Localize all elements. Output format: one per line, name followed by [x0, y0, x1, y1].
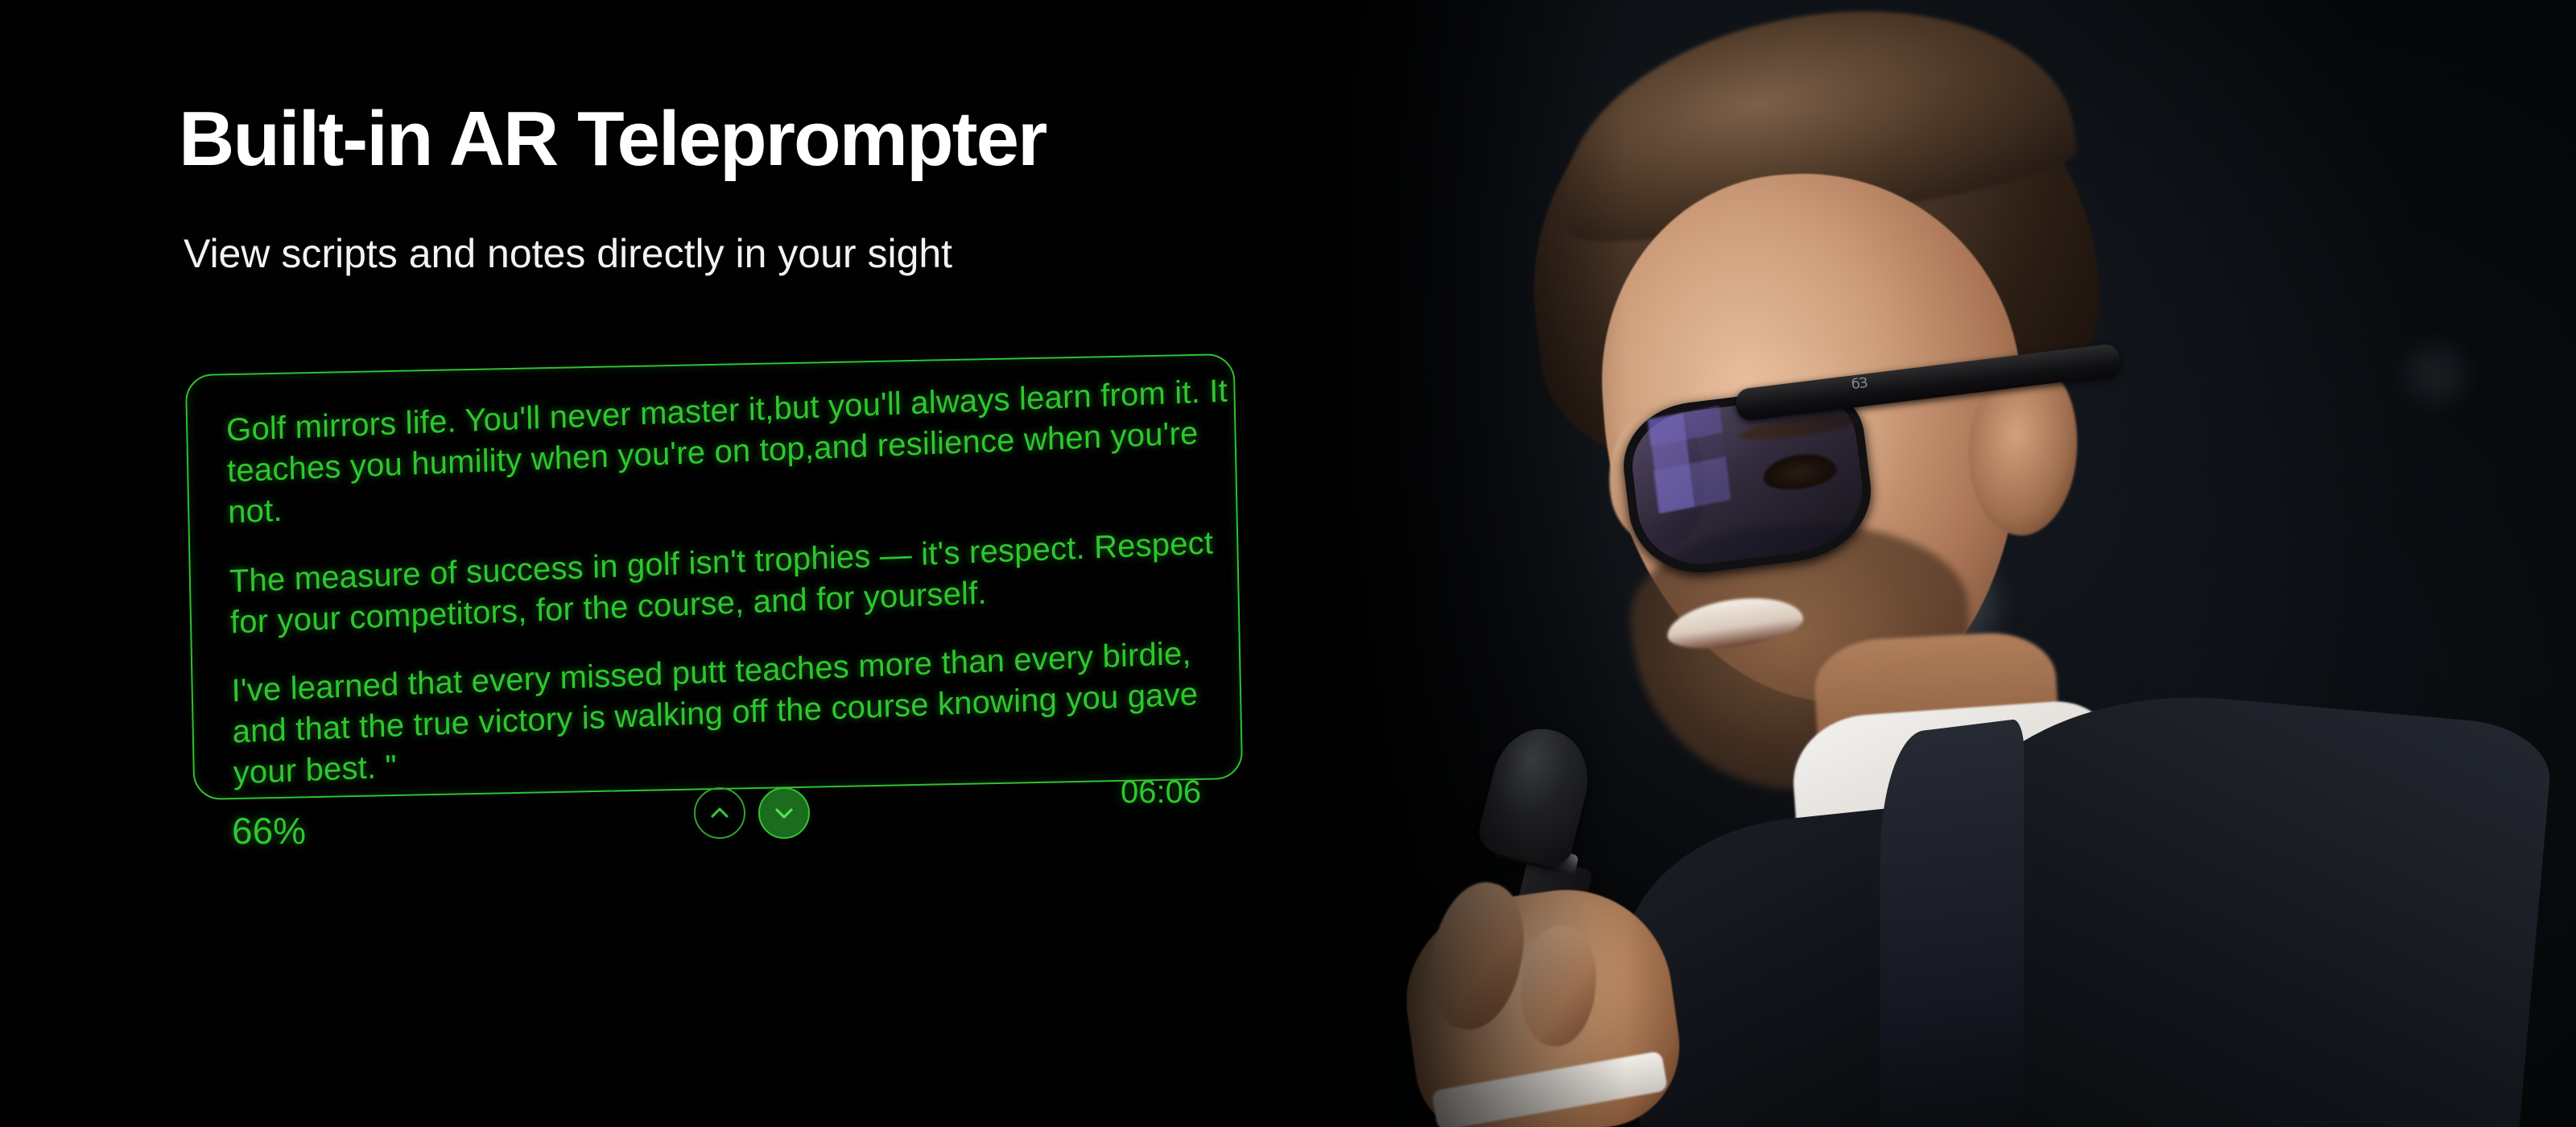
elapsed-timer: 06:06 [1121, 774, 1201, 811]
photo-edge-fade [1288, 0, 1626, 1127]
progress-indicator: 66% [232, 809, 306, 852]
chevron-down-icon [770, 799, 798, 827]
page-title: Built-in AR Teleprompter [179, 101, 1046, 178]
chevron-up-icon [706, 799, 733, 827]
page-subtitle: View scripts and notes directly in your … [184, 233, 952, 274]
scroll-controls [694, 787, 810, 839]
presenter-photo: бЗ [1288, 0, 2576, 1127]
scroll-down-button[interactable] [758, 787, 810, 839]
ar-teleprompter-hero: бЗ Built-in AR Teleprompter View scripts… [0, 0, 2576, 1127]
teleprompter-script: Golf mirrors life. You'll never master i… [226, 371, 1236, 789]
scroll-up-button[interactable] [694, 787, 745, 839]
suit-lapel [1880, 718, 2025, 1127]
script-paragraph: The measure of success in golf isn't tro… [229, 522, 1232, 643]
ar-hud-reflection [1647, 406, 1732, 514]
bokeh-light [2407, 346, 2463, 402]
